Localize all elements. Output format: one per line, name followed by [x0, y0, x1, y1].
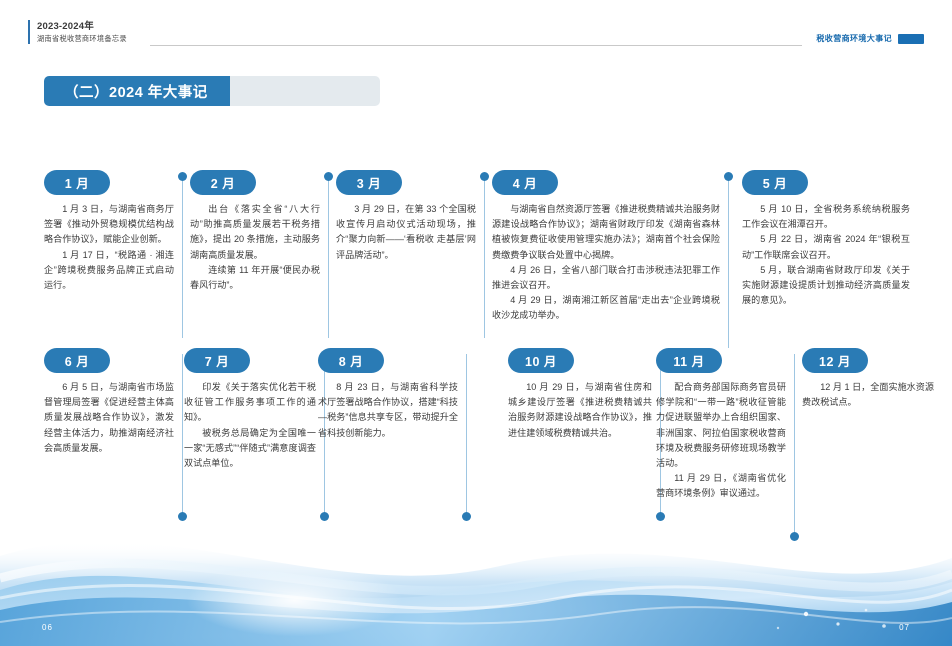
timeline-entry: 2 月出台《落实全省“八大行动”助推高质量发展若干税务措施》，提出 20 条措施…	[190, 170, 320, 293]
running-header-right: 税收营商环境大事记	[816, 33, 924, 44]
entry-paragraph: 出台《落实全省“八大行动”助推高质量发展若干税务措施》，提出 20 条措施，主动…	[190, 202, 320, 263]
page-title: （二）2024 年大事记	[44, 76, 230, 106]
entry-body: 10 月 29 日，与湖南省住房和城乡建设厅签署《推进税费精诚共治服务财源建设战…	[508, 380, 652, 441]
timeline-entry: 1 月1 月 3 日，与湖南省商务厅签署《推动外贸稳规模优结构战略合作协议》，赋…	[44, 170, 174, 293]
timeline-entry: 3 月3 月 29 日，在第 33 个全国税收宣传月启动仪式活动现场，推介“聚力…	[336, 170, 476, 263]
month-badge: 3 月	[336, 170, 402, 195]
timeline-connector-line	[328, 176, 329, 338]
month-badge: 4 月	[492, 170, 558, 195]
entry-body: 12 月 1 日，全面实施水资源费改税试点。	[802, 380, 934, 410]
month-badge: 8 月	[318, 348, 384, 373]
header-divider-line	[150, 45, 802, 46]
entry-body: 配合商务部国际商务官员研修学院和“一带一路”税收征管能力促进联盟举办上合组织国家…	[656, 380, 786, 502]
timeline-node-dot	[324, 172, 333, 181]
timeline-entry: 10 月10 月 29 日，与湖南省住房和城乡建设厅签署《推进税费精诚共治服务财…	[508, 348, 652, 441]
timeline-entry: 8 月8 月 23 日，与湖南省科学技术厅签署战略合作协议，搭建“科技—税务”信…	[318, 348, 458, 441]
running-header-left: 2023-2024年 湖南省税收营商环境备忘录	[28, 20, 127, 44]
entry-paragraph: 与湖南省自然资源厅签署《推进税费精诚共治服务财源建设战略合作协议》；湖南省财政厅…	[492, 202, 720, 263]
entry-body: 与湖南省自然资源厅签署《推进税费精诚共治服务财源建设战略合作协议》；湖南省财政厅…	[492, 202, 720, 324]
timeline-connector-line	[728, 176, 729, 348]
month-badge: 10 月	[508, 348, 574, 373]
entry-paragraph: 连续第 11 年开展“便民办税春风行动”。	[190, 263, 320, 293]
document-page: 2023-2024年 湖南省税收营商环境备忘录 税收营商环境大事记 （二）202…	[0, 0, 952, 646]
title-banner-tail	[230, 76, 380, 106]
timeline-connector-line	[484, 176, 485, 338]
entry-paragraph: 6 月 5 日，与湖南省市场监督管理局签署《促进经营主体高质量发展战略合作协议》…	[44, 380, 174, 456]
entry-body: 出台《落实全省“八大行动”助推高质量发展若干税务措施》，提出 20 条措施，主动…	[190, 202, 320, 293]
page-number-right: 07	[899, 623, 910, 632]
entry-paragraph: 被税务总局确定为全国唯一一家“无感式”“伴随式”满意度调查双试点单位。	[184, 426, 316, 472]
header-section-label: 税收营商环境大事记	[816, 33, 892, 44]
entry-paragraph: 5 月 22 日，湖南省 2024 年“银税互动”工作联席会议召开。	[742, 232, 910, 262]
timeline-connector-line	[182, 176, 183, 338]
timeline-entry: 12 月12 月 1 日，全面实施水资源费改税试点。	[802, 348, 934, 410]
header-year-range: 2023-2024年	[37, 20, 127, 33]
entry-body: 6 月 5 日，与湖南省市场监督管理局签署《促进经营主体高质量发展战略合作协议》…	[44, 380, 174, 456]
timeline-node-dot	[480, 172, 489, 181]
decorative-wave-footer: 06 07	[0, 486, 952, 646]
timeline-entry: 7 月印发《关于落实优化若干税收征管工作服务事项工作的通知》。被税务总局确定为全…	[184, 348, 316, 471]
entry-body: 8 月 23 日，与湖南省科学技术厅签署战略合作协议，搭建“科技—税务”信息共享…	[318, 380, 458, 441]
entry-body: 印发《关于落实优化若干税收征管工作服务事项工作的通知》。被税务总局确定为全国唯一…	[184, 380, 316, 471]
entry-paragraph: 1 月 17 日，“税路通 · 湘连企”跨境税费服务品牌正式启动运行。	[44, 248, 174, 294]
month-badge: 2 月	[190, 170, 256, 195]
entry-body: 1 月 3 日，与湖南省商务厅签署《推动外贸稳规模优结构战略合作协议》，赋能企业…	[44, 202, 174, 293]
section-title-banner: （二）2024 年大事记	[44, 76, 380, 106]
entry-paragraph: 12 月 1 日，全面实施水资源费改税试点。	[802, 380, 934, 410]
entry-paragraph: 5 月 10 日，全省税务系统纳税服务工作会议在湘潭召开。	[742, 202, 910, 232]
header-accent-rule	[28, 20, 30, 44]
entry-body: 3 月 29 日，在第 33 个全国税收宣传月启动仪式活动现场，推介“聚力向新—…	[336, 202, 476, 263]
entry-paragraph: 5 月，联合湖南省财政厅印发《关于实施财源建设提质计划推动经济高质量发展的意见》…	[742, 263, 910, 309]
entry-paragraph: 8 月 23 日，与湖南省科学技术厅签署战略合作协议，搭建“科技—税务”信息共享…	[318, 380, 458, 441]
month-badge: 12 月	[802, 348, 868, 373]
header-blue-block	[898, 34, 924, 44]
entry-paragraph: 印发《关于落实优化若干税收征管工作服务事项工作的通知》。	[184, 380, 316, 426]
month-badge: 11 月	[656, 348, 722, 373]
timeline-entry: 5 月5 月 10 日，全省税务系统纳税服务工作会议在湘潭召开。5 月 22 日…	[742, 170, 910, 308]
timeline-node-dot	[178, 172, 187, 181]
entry-body: 5 月 10 日，全省税务系统纳税服务工作会议在湘潭召开。5 月 22 日，湖南…	[742, 202, 910, 308]
entry-paragraph: 配合商务部国际商务官员研修学院和“一带一路”税收征管能力促进联盟举办上合组织国家…	[656, 380, 786, 471]
entry-paragraph: 1 月 3 日，与湖南省商务厅签署《推动外贸稳规模优结构战略合作协议》，赋能企业…	[44, 202, 174, 248]
month-badge: 6 月	[44, 348, 110, 373]
entry-paragraph: 10 月 29 日，与湖南省住房和城乡建设厅签署《推进税费精诚共治服务财源建设战…	[508, 380, 652, 441]
timeline-node-dot	[724, 172, 733, 181]
month-badge: 5 月	[742, 170, 808, 195]
timeline-entry: 4 月与湖南省自然资源厅签署《推进税费精诚共治服务财源建设战略合作协议》；湖南省…	[492, 170, 720, 324]
header-subtitle: 湖南省税收营商环境备忘录	[37, 33, 127, 44]
month-badge: 1 月	[44, 170, 110, 195]
entry-paragraph: 4 月 29 日，湖南湘江新区首届“走出去”企业跨境税收沙龙成功举办。	[492, 293, 720, 323]
entry-paragraph: 4 月 26 日，全省八部门联合打击涉税违法犯罪工作推进会议召开。	[492, 263, 720, 293]
timeline-entry: 6 月6 月 5 日，与湖南省市场监督管理局签署《促进经营主体高质量发展战略合作…	[44, 348, 174, 456]
page-number-left: 06	[42, 623, 53, 632]
timeline-entry: 11 月配合商务部国际商务官员研修学院和“一带一路”税收征管能力促进联盟举办上合…	[656, 348, 786, 502]
month-badge: 7 月	[184, 348, 250, 373]
entry-paragraph: 3 月 29 日，在第 33 个全国税收宣传月启动仪式活动现场，推介“聚力向新—…	[336, 202, 476, 263]
